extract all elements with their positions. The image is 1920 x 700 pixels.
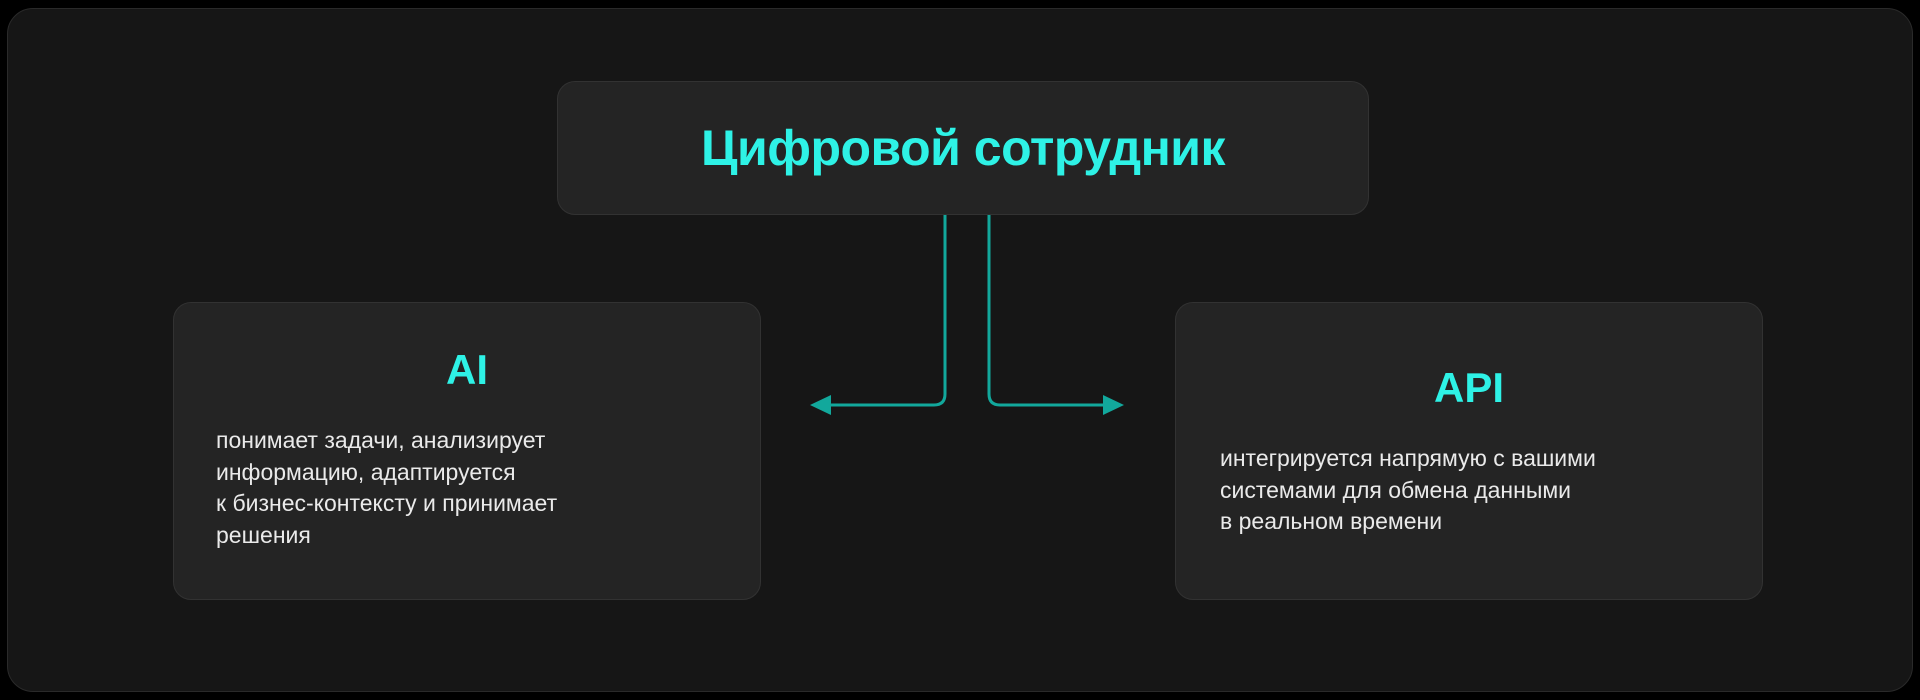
diagram-canvas: Цифровой сотрудник AI понимает задачи, а… [0,0,1920,700]
root-node-label: Цифровой сотрудник [701,123,1225,173]
branch-card-ai: AI понимает задачи, анализирует информац… [173,302,761,600]
arrowhead-left-icon [810,395,831,415]
connector-path-right [989,215,1114,405]
connector-path-left [820,215,945,405]
branch-content-api: API интегрируется напрямую с вашими сист… [1220,367,1718,538]
arrowhead-right-icon [1103,395,1124,415]
branch-content-ai: AI понимает задачи, анализирует информац… [216,349,718,552]
branch-heading-api: API [1220,367,1718,409]
branch-card-api: API интегрируется напрямую с вашими сист… [1175,302,1763,600]
branch-body-api: интегрируется напрямую с вашими системам… [1220,443,1718,538]
branch-heading-ai: AI [216,349,718,391]
root-node-card: Цифровой сотрудник [557,81,1369,215]
branch-body-ai: понимает задачи, анализирует информацию,… [216,425,718,552]
diagram-panel: Цифровой сотрудник AI понимает задачи, а… [7,8,1913,692]
